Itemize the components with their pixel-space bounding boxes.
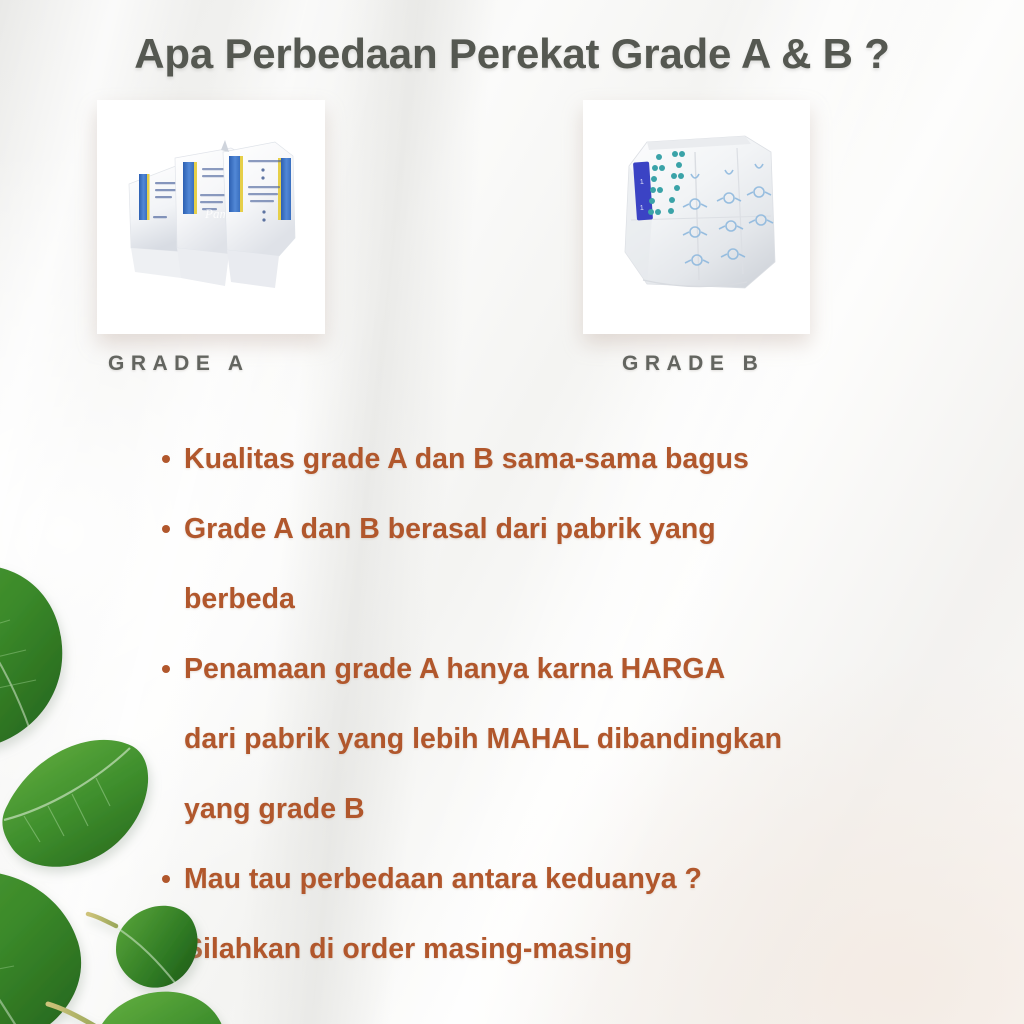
list-item: Grade A dan B berasal dari pabrik yang b… [162,494,1022,634]
list-item: Penamaan grade A hanya karna HARGA dari … [162,634,1022,844]
svg-text:1: 1 [640,179,644,186]
scalloped-frame-grade-b: 1 1 [583,100,810,334]
product-photo-grade-b: 1 1 [595,112,798,322]
list-item-text: Penamaan grade A hanya karna HARGA dari … [184,634,782,844]
product-card-grade-a: Pampers [97,100,325,334]
list-item: Kualitas grade A dan B sama-sama bagus [162,424,1022,494]
list-item: Mau tau perbedaan antara keduanya ? Sila… [162,844,1022,984]
bullet-dot-icon [162,875,170,883]
scalloped-frame-grade-a: Pampers [97,100,325,334]
page-title: Apa Perbedaan Perekat Grade A & B ? [0,30,1024,78]
list-item-text: Mau tau perbedaan antara keduanya ? Sila… [184,844,702,984]
bullet-dot-icon [162,455,170,463]
list-item-text: Kualitas grade A dan B sama-sama bagus [184,424,749,494]
card-label-grade-b: GRADE B [622,352,764,376]
poster-canvas: Apa Perbedaan Perekat Grade A & B ? [0,0,1024,1024]
bullet-dot-icon [162,665,170,673]
product-photo-grade-a: Pampers [109,112,313,322]
list-item-text: Grade A dan B berasal dari pabrik yang b… [184,494,716,634]
bullet-dot-icon [162,525,170,533]
svg-text:1: 1 [640,205,644,212]
diaper-stack-illustration: Pampers [109,112,313,322]
benefits-list: Kualitas grade A dan B sama-sama bagus G… [162,424,1022,984]
diaper-single-illustration: 1 1 [595,112,798,322]
product-card-grade-b: 1 1 [583,100,810,334]
card-label-grade-a: GRADE A [108,352,250,376]
